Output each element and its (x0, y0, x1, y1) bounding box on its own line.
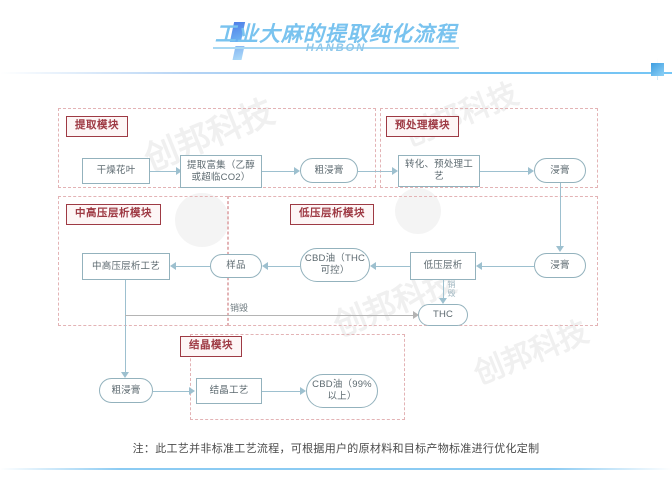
node-cbd-oil-99[interactable]: CBD油（99%以上） (306, 374, 378, 408)
edge-label-destroy: 销毁 (230, 301, 248, 314)
edge-line (560, 183, 561, 250)
node-conversion-pretreatment[interactable]: 转化、预处理工艺 (398, 155, 480, 187)
edge-line (262, 391, 302, 392)
node-paste-2[interactable]: 浸膏 (534, 253, 586, 278)
page-header: 工业大麻的提取纯化流程 HANBON (0, 0, 672, 78)
edge-arrow (370, 262, 376, 270)
page-title: 工业大麻的提取纯化流程 HANBON (0, 18, 672, 48)
node-sample[interactable]: 样品 (210, 254, 262, 278)
edge-line (150, 171, 178, 172)
edge-arrow (189, 387, 195, 395)
flow-diagram: 创邦科技 创邦科技 创邦科技 创邦科技 提取模块 预处理模块 中高压层析模块 低… (0, 78, 672, 438)
edge-line (262, 171, 296, 172)
module-label-low-chrom: 低压层析模块 (290, 204, 374, 225)
node-crystallization-process[interactable]: 结晶工艺 (196, 378, 262, 404)
brand-name: HANBON (0, 42, 672, 54)
page-root: 工业大麻的提取纯化流程 HANBON 创邦科技 创邦科技 创邦科技 创邦科技 提… (0, 0, 672, 484)
footer-divider (0, 468, 672, 470)
edge-arrow (556, 246, 564, 252)
node-mid-high-pressure-chromatography[interactable]: 中高压层析工艺 (82, 253, 170, 280)
edge-line (480, 171, 530, 172)
edge-line (358, 171, 394, 172)
edge-line-destroy (125, 315, 415, 316)
edge-line (264, 266, 300, 267)
node-thc[interactable]: THC (418, 304, 468, 326)
edge-arrow (170, 262, 176, 270)
edge-line (478, 266, 534, 267)
footer-note: 注：此工艺并非标准工艺流程，可根据用户的原材料和目标产物标准进行优化定制 (0, 440, 672, 456)
edge-arrow (262, 262, 268, 270)
module-label-extraction: 提取模块 (66, 116, 128, 137)
node-crude-paste-2[interactable]: 粗浸膏 (99, 378, 153, 403)
node-crude-paste-1[interactable]: 粗浸膏 (300, 158, 358, 183)
node-extraction-enrichment[interactable]: 提取富集（乙醇或超临CO2） (180, 155, 262, 188)
module-label-mid-high: 中高压层析模块 (66, 204, 161, 225)
edge-line (372, 266, 410, 267)
node-cbd-oil-thc-controlled[interactable]: CBD油（THC可控） (300, 248, 370, 282)
node-paste-1[interactable]: 浸膏 (534, 158, 586, 183)
node-dried-leaf[interactable]: 干燥花叶 (82, 158, 150, 184)
edge-arrow (476, 262, 482, 270)
module-label-crystallization: 结晶模块 (180, 336, 242, 357)
edge-line (172, 266, 210, 267)
edge-line (153, 391, 191, 392)
module-label-pretreatment: 预处理模块 (386, 116, 459, 137)
header-divider (0, 72, 672, 74)
edge-line (125, 280, 126, 376)
edge-label-destroy-vertical: 销毁 (446, 280, 457, 298)
edge-arrow (413, 311, 419, 319)
node-low-pressure-chromatography[interactable]: 低压层析 (410, 252, 476, 280)
corner-square-icon (651, 63, 664, 76)
